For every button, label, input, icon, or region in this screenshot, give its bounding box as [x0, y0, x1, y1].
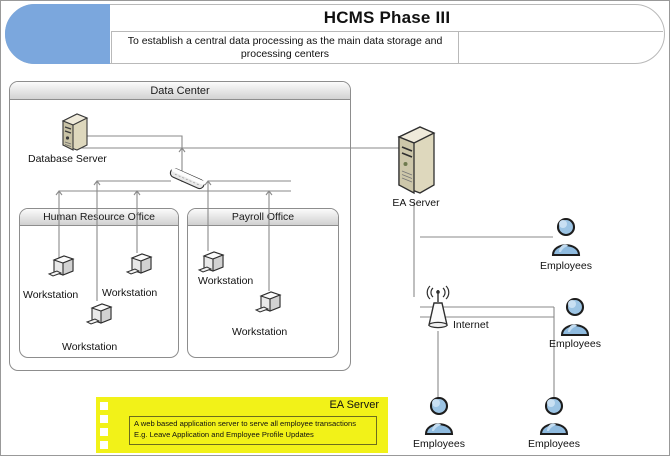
employee-label: Employees: [540, 260, 592, 272]
panel-data-center-title: Data Center: [10, 82, 350, 100]
header-banner: HCMS Phase III To establish a central da…: [5, 4, 665, 64]
panel-hr-office-title: Human Resource Office: [20, 209, 178, 226]
workstation-icon: [254, 289, 284, 322]
workstation-icon: [125, 251, 155, 284]
note-line-1: A web based application server to serve …: [134, 419, 372, 430]
internet-label: Internet: [453, 319, 489, 331]
employee-label: Employees: [413, 438, 465, 450]
panel-hr-office: Human Resource Office: [19, 208, 179, 358]
workstation-label: Workstation: [198, 275, 253, 287]
banner-accent-cap: [5, 4, 110, 64]
employee-icon: [558, 296, 592, 343]
employee-label: Employees: [528, 438, 580, 450]
employee-label: Employees: [549, 338, 601, 350]
note-notch: [100, 428, 108, 436]
employee-icon: [422, 395, 456, 442]
panel-payroll-office-title: Payroll Office: [188, 209, 338, 226]
note-line-2: E.g. Leave Application and Employee Prof…: [134, 430, 372, 441]
note-notch: [100, 415, 108, 423]
ea-server-note: EA Server A web based application server…: [96, 397, 388, 453]
note-body: A web based application server to serve …: [129, 416, 377, 445]
internet-antenna-icon: [421, 284, 455, 337]
workstation-label: Workstation: [23, 289, 78, 301]
ea-server-label: EA Server: [392, 197, 439, 209]
banner-empty-cell: [459, 31, 663, 63]
employee-icon: [537, 395, 571, 442]
diagram-canvas: HCMS Phase III To establish a central da…: [0, 0, 670, 456]
page-title: HCMS Phase III: [111, 5, 663, 31]
ea-server-icon: [394, 123, 438, 206]
workstation-label: Workstation: [62, 341, 117, 353]
workstation-icon: [47, 253, 77, 286]
note-notch: [100, 441, 108, 449]
page-subtitle: To establish a central data processing a…: [111, 31, 459, 63]
database-server-label: Database Server: [28, 153, 107, 165]
database-server-icon: [59, 111, 89, 158]
banner-subtitle-row: To establish a central data processing a…: [111, 31, 663, 63]
note-notch: [100, 402, 108, 410]
network-switch-icon: [163, 166, 211, 197]
employee-icon: [549, 216, 583, 263]
workstation-icon: [85, 301, 115, 334]
note-title: EA Server: [329, 399, 379, 411]
workstation-label: Workstation: [232, 326, 287, 338]
workstation-label: Workstation: [102, 287, 157, 299]
